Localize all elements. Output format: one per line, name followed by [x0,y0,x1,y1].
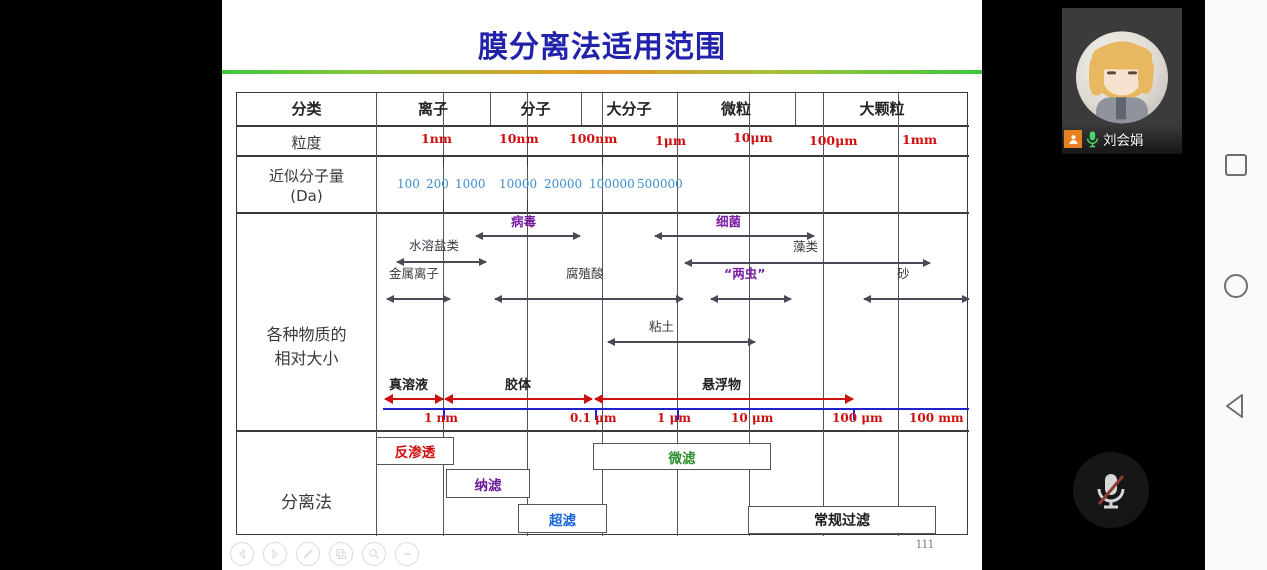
copy-icon[interactable] [329,542,353,566]
state-arrow-suspension [595,398,853,400]
substance-arrow-metal-ion [387,298,450,300]
substance-label-two-worms: “两虫” [724,263,765,282]
substance-label-bacteria: 细菌 [716,211,741,230]
table-vline-1mm [898,93,899,536]
participant-video-tile[interactable]: 刘会娟 [1062,8,1182,154]
method-box-nanofiltration[interactable]: 纳滤 [446,469,530,498]
mw-20000: 20000 [544,177,582,191]
state-arrow-colloid [445,398,592,400]
slide-area[interactable]: 膜分离法适用范围 分类 离子 [222,0,982,570]
row-label-relative-size-1: 各种物质的 [237,321,376,345]
square-recents-icon[interactable] [1223,152,1249,178]
state-arrow-true-solution [385,398,443,400]
microphone-muted-icon [1093,469,1129,511]
presenter-badge-icon [1064,130,1082,148]
tick-100um: 100μm [809,133,857,148]
play-icon[interactable] [263,542,287,566]
method-box-reverse-osmosis[interactable]: 反渗透 [376,437,454,465]
mw-10000: 10000 [499,177,537,191]
header-cell-ion: 离子 [376,93,490,125]
bottom-axis-line [383,408,969,410]
state-label-true-solution: 真溶液 [389,374,428,393]
microphone-on-icon [1085,130,1100,148]
substance-label-humic-acid: 腐殖酸 [566,263,604,282]
substance-arrow-clay [608,341,755,343]
tick-10nm: 10nm [499,131,539,146]
scale-mark-6 [602,201,603,212]
mw-200: 200 [426,177,449,191]
tick-1um: 1μm [655,133,686,148]
substance-arrow-two-worms [711,298,791,300]
tick-10um: 10μm [733,130,773,145]
tick-1nm: 1nm [421,131,452,146]
minus-icon[interactable] [395,542,419,566]
state-label-suspension: 悬浮物 [702,374,741,393]
avatar [1076,31,1168,123]
circle-home-icon[interactable] [1222,272,1250,300]
pen-icon[interactable] [296,542,320,566]
axis-label-1nm: 1 nm [424,411,458,425]
axis-label-10um: 10 μm [731,411,773,425]
participant-name: 刘会娟 [1103,129,1144,149]
scale-mark-1 [443,155,444,166]
table-vline-label [376,93,377,536]
tick-100nm: 100nm [569,131,617,146]
scale-mark-2 [527,155,528,166]
method-box-microfiltration[interactable]: 微滤 [593,443,771,470]
axis-label-100um: 100 μm [832,411,883,425]
mw-1000: 1000 [455,177,486,191]
mw-100: 100 [397,177,420,191]
substance-label-soluble-salts: 水溶盐类 [409,235,459,254]
substance-arrow-sand [864,298,969,300]
state-label-colloid: 胶体 [505,374,531,393]
page-number: 111 [915,536,934,552]
scale-mark-3 [602,155,603,166]
prev-icon[interactable] [230,542,254,566]
row-label-molecular-weight: 近似分子量 [237,165,376,186]
method-box-conventional-filtration[interactable]: 常规过滤 [748,506,936,534]
substance-arrow-algae [685,262,930,264]
header-cell-macromolecule: 大分子 [581,93,677,125]
tile-status-bar: 刘会娟 [1062,124,1182,154]
header-cell-molecule: 分子 [490,93,581,125]
substance-arrow-bacteria [655,235,814,237]
slide-toolbar[interactable] [230,542,419,566]
search-icon[interactable] [362,542,386,566]
method-box-ultrafiltration[interactable]: 超滤 [518,504,607,533]
title-divider [222,70,982,74]
row-label-particle-size: 粒度 [237,132,376,153]
scale-mark-4 [443,201,444,212]
header-cell-category: 分类 [237,93,376,125]
tick-1mm: 1mm [902,132,937,147]
mw-100000: 100000 [589,177,635,191]
row-label-relative-size-2: 相对大小 [237,345,376,369]
triangle-back-icon[interactable] [1222,392,1250,420]
substance-label-virus: 病毒 [511,211,536,230]
row-label-separation: 分离法 [237,488,376,513]
axis-label-100mm: 100 mm [909,411,964,425]
row-label-molecular-weight-unit: (Da) [237,187,376,205]
substance-label-clay: 粘土 [649,316,674,335]
mute-button[interactable] [1073,452,1149,528]
substance-label-sand: 砂 [897,263,910,282]
header-cell-large-particle: 大颗粒 [795,93,969,125]
android-navigation-bar[interactable] [1205,0,1267,570]
mw-500000: 500000 [637,177,683,191]
substance-arrow-virus [476,235,580,237]
header-cell-particle: 微粒 [677,93,795,125]
axis-label-1um: 1 μm [657,411,691,425]
page-title: 膜分离法适用范围 [222,22,982,66]
axis-label-01um: 0.1 μm [570,411,617,425]
table-vline-100um [823,93,824,536]
screen: 膜分离法适用范围 分类 离子 [0,0,1267,570]
membrane-separation-table: 分类 离子 分子 大分子 微粒 大颗粒 粒度 1nm 10nm 100nm 1μ… [236,92,968,535]
substance-arrow-humic-acid [495,298,683,300]
substance-label-metal-ion: 金属离子 [389,263,439,282]
substance-label-algae: 藻类 [793,236,818,255]
